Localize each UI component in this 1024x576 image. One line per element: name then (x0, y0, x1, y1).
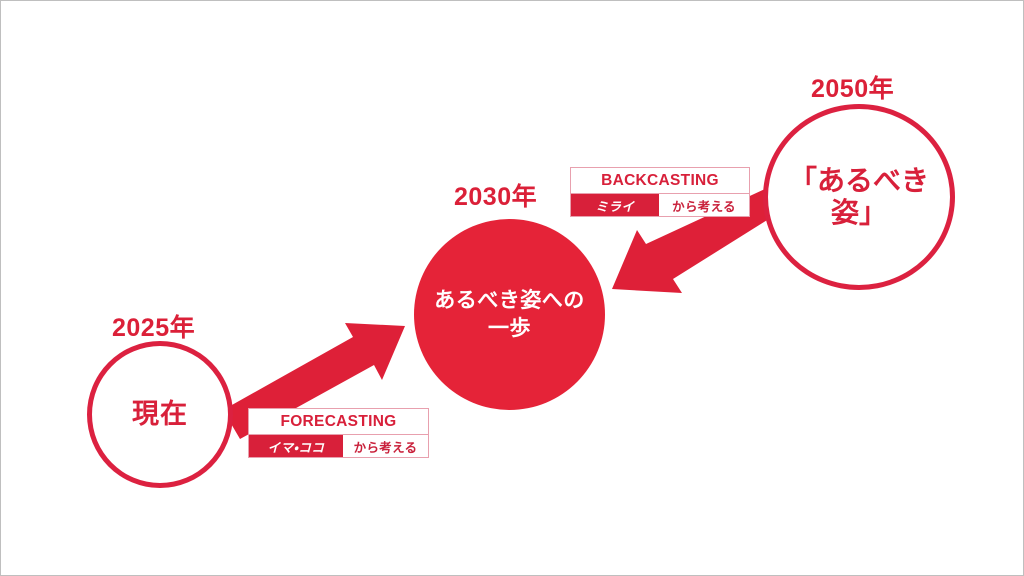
year-label-2025: 2025年 (112, 308, 195, 344)
node-circle-vision[interactable]: 「あるべき姿」 (763, 104, 955, 290)
forecasting-title: FORECASTING (249, 409, 428, 434)
node-label-step: あるべき姿への 一歩 (434, 287, 585, 342)
label-box-backcasting: BACKCASTING ミライ から考える (570, 167, 750, 217)
node-circle-step[interactable]: あるべき姿への 一歩 (414, 219, 605, 410)
node-circle-now[interactable]: 現在 (87, 341, 233, 488)
forecasting-highlight: イマ・ココ (249, 435, 343, 457)
forecasting-subrow: イマ・ココ から考える (249, 434, 428, 457)
node-label-step-line1: あるべき姿への (434, 289, 585, 312)
backcasting-highlight: ミライ (571, 194, 659, 216)
node-label-vision: 「あるべき姿」 (768, 165, 950, 229)
node-label-now: 現在 (132, 399, 188, 430)
forecasting-rest: から考える (343, 435, 428, 457)
backcasting-rest: から考える (659, 194, 749, 216)
node-label-step-line2: 一歩 (488, 317, 531, 340)
backcasting-title: BACKCASTING (571, 168, 749, 193)
year-label-2050: 2050年 (811, 69, 894, 105)
label-box-forecasting: FORECASTING イマ・ココ から考える (248, 408, 429, 458)
backcasting-subrow: ミライ から考える (571, 193, 749, 216)
year-label-2030: 2030年 (454, 177, 537, 213)
diagram-canvas: 2025年 現在 2030年 あるべき姿への 一歩 2050年 「あるべき姿」 … (0, 0, 1024, 576)
